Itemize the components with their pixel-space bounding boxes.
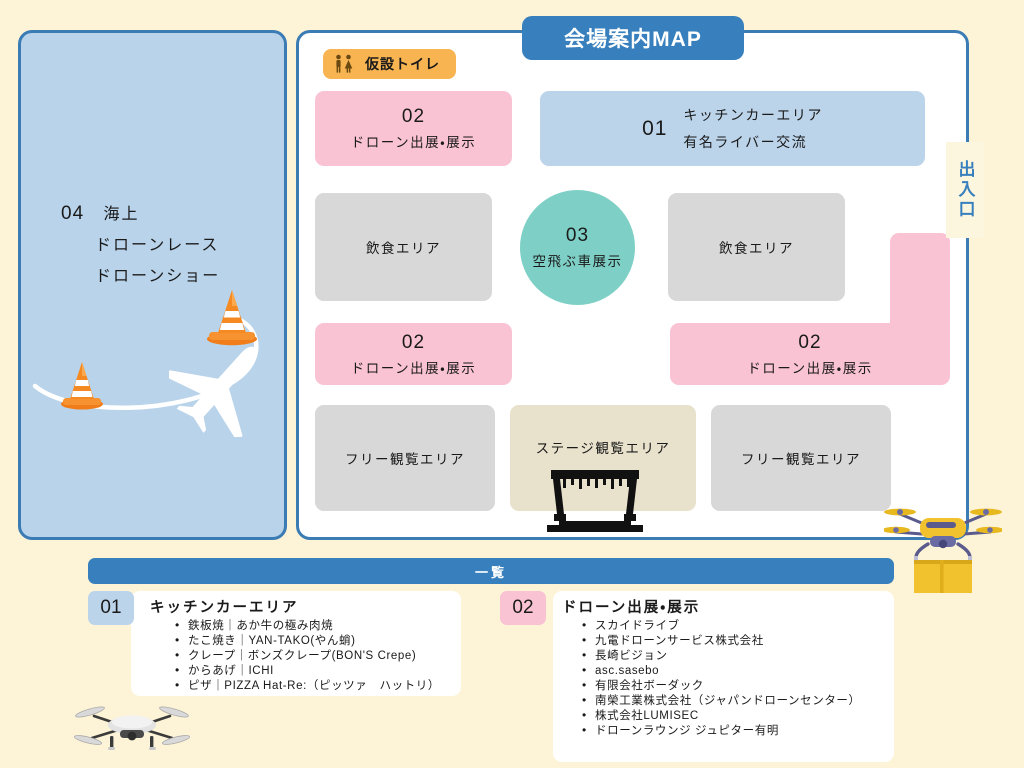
sea-area-line2: ドローンレース [61, 230, 220, 261]
area-food-left[interactable]: 飲食エリア [315, 193, 492, 301]
temporary-toilet-chip[interactable]: 仮設トイレ [323, 49, 456, 79]
page-title: 会場案内MAP [564, 23, 702, 53]
area-number: 01 [642, 117, 667, 141]
area-kitchen-car[interactable]: 01 キッチンカーエリア 有名ライバー交流 [540, 91, 925, 166]
sea-area-line3: ドローンショー [61, 261, 220, 292]
area-label: ドローン出展・展示 [747, 357, 872, 377]
area-drone-exhibit-mid-left[interactable]: 02 ドローン出展・展示 [315, 323, 512, 385]
traffic-cone-icon [59, 358, 105, 410]
sea-area-line1: 海上 [103, 206, 139, 223]
area-drone-exhibit-right[interactable]: 02 ドローン出展・展示 [670, 323, 950, 385]
list-item: ピザ｜PIZZA Hat-Re:（ピッツァ ハットリ） [175, 679, 440, 694]
list-item: 南榮工業株式会社（ジャパンドローンセンター） [582, 694, 861, 709]
sea-area-panel: 04 海上 ドローンレース ドローンショー [18, 30, 287, 540]
area-free-viewing-right[interactable]: フリー観覧エリア [711, 405, 891, 511]
list-item: 九電ドローンサービス株式会社 [582, 634, 861, 649]
airplane-icon [169, 333, 281, 437]
list-item: asc.sasebo [582, 664, 861, 679]
area-label: フリー観覧エリア [741, 448, 861, 468]
entrance-exit-text: 出入口 [953, 160, 978, 220]
list-item: 鉄板焼｜あか牛の極み肉焼 [175, 619, 440, 634]
list-section-label: 一覧 [475, 562, 507, 581]
area-label: ドローン出展・展示 [351, 131, 476, 151]
list-item: 有限会社ボーダック [582, 679, 861, 694]
area-label: 飲食エリア [366, 237, 441, 257]
list-item: 株式会社LUMISEC [582, 709, 861, 724]
area-free-viewing-left[interactable]: フリー観覧エリア [315, 405, 495, 511]
area-label: ステージ観覧エリア [536, 437, 671, 457]
delivery-drone-icon [884, 494, 1002, 594]
list-items-drone-exhibit: スカイドライブ 九電ドローンサービス株式会社 長崎ビジョン asc.sasebo… [582, 619, 861, 739]
list-badge-number: 02 [512, 597, 533, 619]
list-badge-02: 02 [500, 591, 546, 625]
venue-map-panel: 仮設トイレ 02 ドローン出展・展示 01 キッチンカーエリア 有名ライバー交流… [296, 30, 969, 540]
area-number: 02 [402, 106, 425, 128]
area-label: ドローン出展・展示 [351, 357, 476, 377]
stage-truss-icon [545, 470, 645, 532]
page-title-banner: 会場案内MAP [522, 16, 744, 60]
area-number: 03 [566, 225, 589, 247]
list-items-kitchen-car: 鉄板焼｜あか牛の極み肉焼 たこ焼き｜YAN-TAKO(やん蛸) クレープ｜ボンズ… [175, 619, 440, 694]
area-label: 飲食エリア [719, 237, 794, 257]
area-drone-exhibit-right-arm [890, 233, 950, 329]
area-label-line2: 有名ライバー交流 [683, 132, 823, 152]
area-food-right[interactable]: 飲食エリア [668, 193, 845, 301]
sea-area-label: 04 海上 ドローンレース ドローンショー [61, 198, 220, 292]
list-title-drone-exhibit: ドローン出展・展示 [562, 596, 700, 617]
entrance-exit-label: 出入口 [946, 142, 984, 238]
list-section-banner: 一覧 [88, 558, 894, 584]
list-item: 長崎ビジョン [582, 649, 861, 664]
area-flying-car-exhibit[interactable]: 03 空飛ぶ車展示 [520, 190, 635, 305]
area-label: フリー観覧エリア [345, 448, 465, 468]
quadcopter-drone-icon [72, 692, 192, 762]
list-title-kitchen-car: キッチンカーエリア [150, 596, 299, 617]
sea-area-number: 04 [61, 203, 84, 224]
list-item: ドローンラウンジ ジュピター有明 [582, 724, 861, 739]
area-number: 02 [402, 332, 425, 354]
area-label-line1: キッチンカーエリア [683, 105, 823, 125]
area-drone-exhibit-top-left[interactable]: 02 ドローン出展・展示 [315, 91, 512, 166]
list-item: スカイドライブ [582, 619, 861, 634]
list-item: クレープ｜ボンズクレープ(BON'S Crepe) [175, 649, 440, 664]
restroom-icon [333, 54, 355, 74]
list-item: たこ焼き｜YAN-TAKO(やん蛸) [175, 634, 440, 649]
area-label: 空飛ぶ車展示 [533, 250, 623, 270]
area-number: 02 [798, 332, 821, 354]
list-item: からあげ｜ICHI [175, 664, 440, 679]
temporary-toilet-label: 仮設トイレ [365, 54, 440, 74]
list-badge-number: 01 [100, 597, 121, 619]
list-badge-01: 01 [88, 591, 134, 625]
